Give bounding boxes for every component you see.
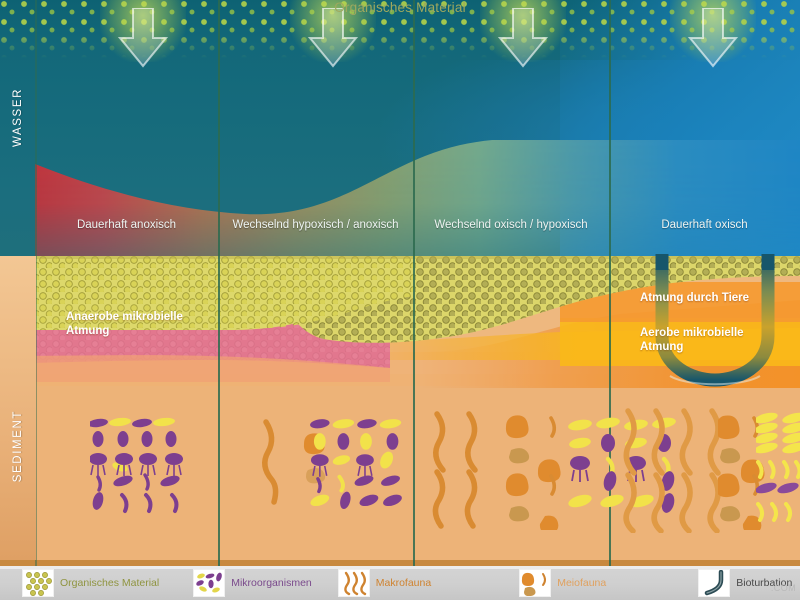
legend-label-macrofauna: Makrofauna (376, 577, 431, 589)
watermark: .COM (771, 583, 796, 593)
microbes-swatch-icon (193, 569, 225, 597)
sediment-left-margin (0, 256, 36, 560)
fauna-group-zone1-microorganisms (90, 415, 200, 515)
worms-swatch-icon (338, 569, 370, 597)
fauna-group-zone4-microorganisms (756, 412, 800, 524)
meiofauna-swatch-icon (519, 569, 551, 597)
dots-swatch-icon (22, 569, 54, 597)
legend-item-macrofauna[interactable]: Makrofauna (338, 569, 431, 597)
burrow-swatch-icon (698, 569, 730, 597)
label-aerobic-line2: Atmung (640, 340, 744, 354)
fauna-group-zone2-microorganisms (310, 415, 418, 515)
zone-label-1: Dauerhaft anoxisch (35, 219, 218, 231)
settling-arrow-1-icon (114, 8, 172, 70)
legend-item-organic-matter[interactable]: Organisches Material (22, 569, 159, 597)
label-aerobic-line1: Aerobe mikrobielle (640, 326, 744, 340)
zone-label-2: Wechselnd hypoxisch / anoxisch (218, 219, 413, 231)
label-anaerobic-respiration: Anaerobe mikrobielle Atmung (66, 310, 183, 338)
label-aerobic-respiration: Aerobe mikrobielle Atmung (640, 326, 744, 354)
zone-label-4: Dauerhaft oxisch (609, 219, 800, 231)
sediment-side-label: SEDIMENT (12, 410, 24, 482)
fauna-group-zone3-meiofauna (505, 412, 573, 530)
legend-item-meiofauna[interactable]: Meiofauna (519, 569, 606, 597)
label-animal-line1: Atmung durch Tiere (640, 291, 749, 305)
legend-label-meiofauna: Meiofauna (557, 577, 606, 589)
label-animal-respiration: Atmung durch Tiere (640, 291, 749, 305)
oxygen-gradient-wave (35, 140, 800, 258)
bioturbation-burrow-icon (640, 250, 790, 400)
zone-divider-1 (218, 0, 220, 566)
organic-matter-title: Organisches Material (0, 0, 800, 15)
zone-label-3: Wechselnd oxisch / hypoxisch (413, 219, 609, 231)
fauna-group-zone3-macrofauna (425, 410, 505, 530)
legend-bar: Organisches Material (0, 566, 800, 600)
diagram-canvas: Organisches Material (0, 0, 800, 600)
legend-item-microorganisms[interactable]: Mikroorganismen (193, 569, 312, 597)
legend-label-microorganisms: Mikroorganismen (231, 577, 312, 589)
legend-label-organic-matter: Organisches Material (60, 577, 159, 589)
settling-arrow-3-icon (494, 8, 552, 70)
settling-arrow-4-icon (684, 8, 742, 70)
label-anaerobic-line2: Atmung (66, 324, 183, 338)
settling-arrow-2-icon (304, 8, 362, 70)
water-side-label: WASSER (12, 88, 24, 147)
label-anaerobic-line1: Anaerobe mikrobielle (66, 310, 183, 324)
